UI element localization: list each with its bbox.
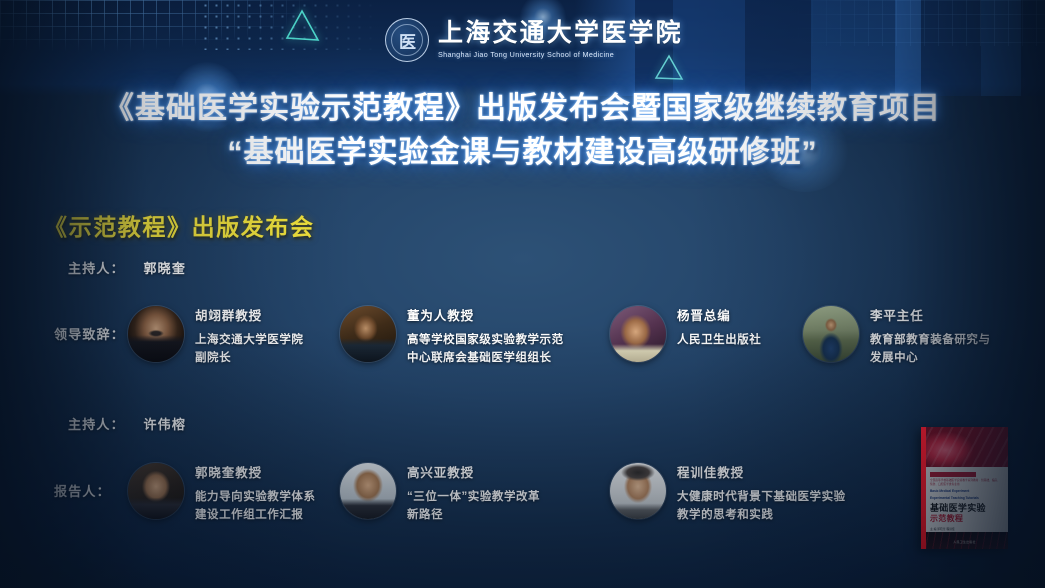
- person-card: 高兴亚教授 “三位一体”实验教学改革 新路径: [340, 463, 540, 525]
- person-name: 郭晓奎教授: [195, 466, 316, 481]
- seal-mark-glyph: 医: [386, 19, 428, 61]
- book-series-bar: [930, 472, 976, 477]
- person-desc: 大健康时代背景下基础医学实验 教学的思考和实践: [677, 489, 846, 525]
- book-title-cn: 基础医学实验: [930, 504, 1002, 514]
- host-label-2: 主持人：: [68, 417, 125, 432]
- person-name: 李平主任: [870, 309, 991, 324]
- book-spine: [921, 427, 926, 549]
- book-footer-band: 人民卫生出版社: [921, 532, 1008, 549]
- avatar: [610, 306, 666, 362]
- person-desc-line: 副院长: [195, 350, 303, 368]
- person-card: 董为人教授 高等学校国家级实验教学示范 中心联席会基础医学组组长: [340, 306, 564, 368]
- triangle-decoration-left: [282, 8, 322, 44]
- slide-canvas: 医 上海交通大学医学院 Shanghai Jiao Tong Universit…: [0, 0, 1045, 588]
- host-label-1: 主持人：: [68, 261, 125, 276]
- person-desc-line: 教学的思考和实践: [677, 507, 846, 525]
- book-title-en-1: Basic Medical Experiment: [930, 489, 1002, 494]
- person-desc-line: 教育部教育装备研究与: [870, 332, 991, 350]
- person-desc-line: 大健康时代背景下基础医学实验: [677, 489, 846, 507]
- person-name: 董为人教授: [407, 309, 564, 324]
- person-desc-line: 上海交通大学医学院: [195, 332, 303, 350]
- role-label-speech: 领导致辞：: [54, 324, 125, 343]
- person-card: 郭晓奎教授 能力导向实验教学体系 建设工作组工作汇报: [128, 463, 316, 525]
- person-desc-line: 发展中心: [870, 350, 991, 368]
- logo-english-name: Shanghai Jiao Tong University School of …: [438, 51, 683, 58]
- person-name: 高兴亚教授: [407, 466, 540, 481]
- person-desc-line: 中心联席会基础医学组组长: [407, 350, 564, 368]
- avatar: [128, 306, 184, 362]
- person-desc-line: 建设工作组工作汇报: [195, 507, 316, 525]
- person-desc: 教育部教育装备研究与 发展中心: [870, 332, 991, 368]
- person-desc-line: 人民卫生出版社: [677, 332, 761, 350]
- title-line-1: 《基础医学实验示范教程》出版发布会暨国家级继续教育项目: [0, 90, 1045, 128]
- book-cover: 全国高等学校基础医学实验教学系列教材 · 供基础、临床、预防、口腔医学类专业用 …: [921, 427, 1008, 549]
- book-cover-text: 全国高等学校基础医学实验教学系列教材 · 供基础、临床、预防、口腔医学类专业用 …: [921, 467, 1008, 532]
- avatar: [128, 463, 184, 519]
- book-subtitle-cn: 示范教程: [930, 515, 1002, 524]
- person-desc: 上海交通大学医学院 副院长: [195, 332, 303, 368]
- book-publisher: 人民卫生出版社: [921, 540, 1008, 544]
- title-line-2: “基础医学实验金课与教材建设高级研修班”: [0, 134, 1045, 172]
- host-name-2: 许伟榕: [143, 417, 186, 432]
- main-title: 《基础医学实验示范教程》出版发布会暨国家级继续教育项目 “基础医学实验金课与教材…: [0, 90, 1045, 173]
- section-heading: 《示范教程》出版发布会: [44, 208, 315, 242]
- person-desc-line: “三位一体”实验教学改革: [407, 489, 540, 507]
- person-desc: 人民卫生出版社: [677, 332, 761, 350]
- host-row-1: 主持人： 郭晓奎: [68, 258, 186, 277]
- avatar: [340, 463, 396, 519]
- logo-chinese-name: 上海交通大学医学院: [438, 21, 683, 46]
- person-desc: 高等学校国家级实验教学示范 中心联席会基础医学组组长: [407, 332, 564, 368]
- avatar: [610, 463, 666, 519]
- university-logo: 医 上海交通大学医学院 Shanghai Jiao Tong Universit…: [385, 18, 683, 62]
- person-card: 程训佳教授 大健康时代背景下基础医学实验 教学的思考和实践: [610, 463, 846, 525]
- book-series-line: 全国高等学校基础医学实验教学系列教材 · 供基础、临床、预防、口腔医学类专业用: [930, 479, 1002, 487]
- book-title-en-2: Experimental Teaching Tutorials: [930, 496, 1002, 501]
- host-row-2: 主持人： 许伟榕: [68, 414, 186, 433]
- person-desc-line: 高等学校国家级实验教学示范: [407, 332, 564, 350]
- person-name: 杨晋总编: [677, 309, 761, 324]
- avatar: [340, 306, 396, 362]
- person-name: 程训佳教授: [677, 466, 846, 481]
- person-desc: 能力导向实验教学体系 建设工作组工作汇报: [195, 489, 316, 525]
- person-desc: “三位一体”实验教学改革 新路径: [407, 489, 540, 525]
- person-card: 李平主任 教育部教育装备研究与 发展中心: [803, 306, 991, 368]
- avatar: [803, 306, 859, 362]
- book-cover-image: [921, 427, 1008, 467]
- university-seal-icon: 医: [385, 18, 429, 62]
- person-desc-line: 能力导向实验教学体系: [195, 489, 316, 507]
- person-desc-line: 新路径: [407, 507, 540, 525]
- host-name-1: 郭晓奎: [143, 261, 186, 276]
- role-label-report: 报告人：: [54, 481, 111, 500]
- person-name: 胡翊群教授: [195, 309, 303, 324]
- person-card: 胡翊群教授 上海交通大学医学院 副院长: [128, 306, 303, 368]
- person-card: 杨晋总编 人民卫生出版社: [610, 306, 761, 362]
